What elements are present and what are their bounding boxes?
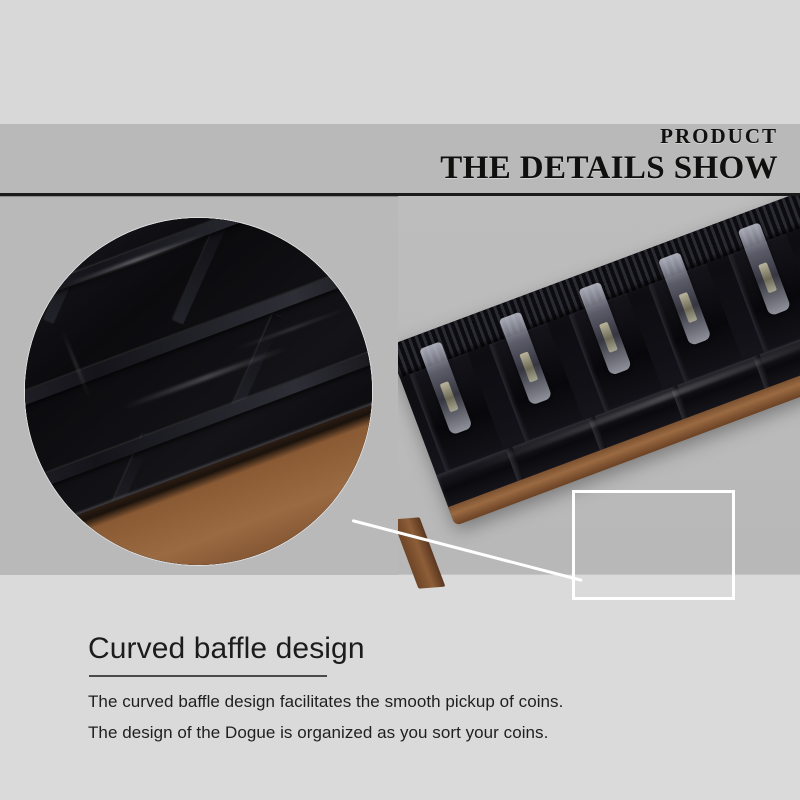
- copy-line-1: The curved baffle design facilitates the…: [88, 686, 688, 717]
- magnified-corner-detail: [25, 218, 372, 565]
- copy-underline-rule: [89, 675, 327, 677]
- copy-heading: Curved baffle design: [88, 630, 688, 668]
- page-title: THE DETAILS SHOW: [178, 149, 778, 187]
- detail-background: [25, 218, 372, 565]
- callout-highlight-box: [572, 490, 735, 600]
- background-band-top: [0, 0, 800, 124]
- copy-block: Curved baffle design The curved baffle d…: [88, 630, 688, 748]
- header-kicker: PRODUCT: [178, 124, 778, 148]
- product-detail-page: PRODUCT THE DETAILS SHOW: [0, 0, 800, 800]
- header-text-block: PRODUCT THE DETAILS SHOW: [178, 124, 778, 187]
- copy-line-2: The design of the Dogue is organized as …: [88, 717, 688, 748]
